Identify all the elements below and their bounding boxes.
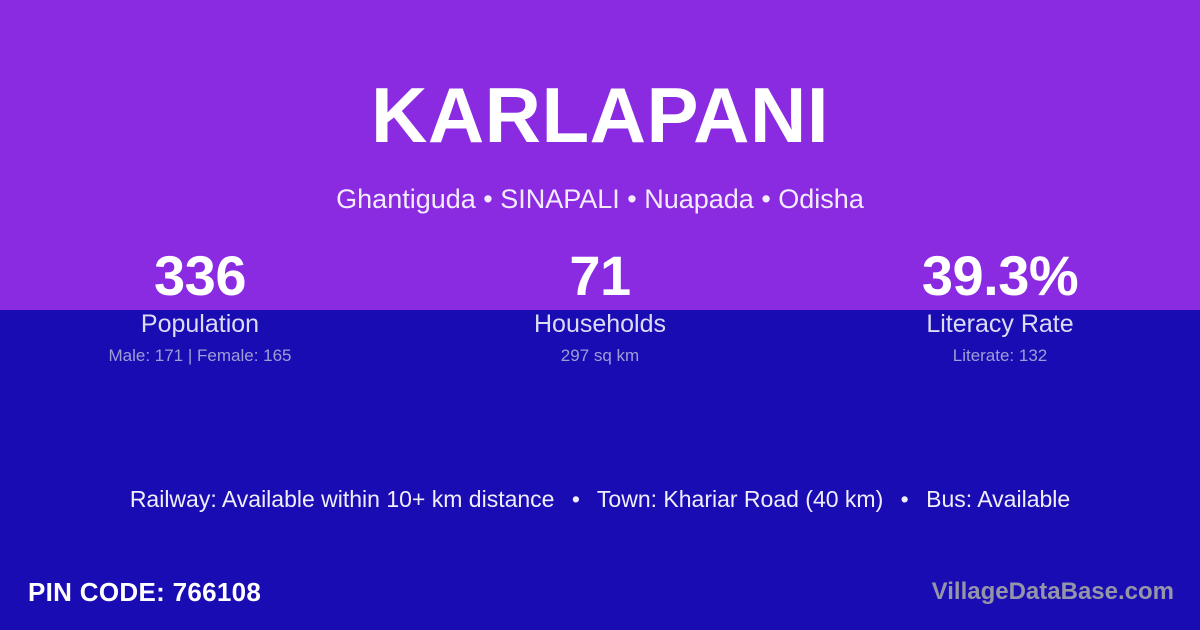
- stat-population-label: Population: [0, 307, 400, 341]
- infrastructure-separator-2: •: [890, 483, 920, 515]
- stat-households-value: 71: [400, 245, 800, 307]
- pin-code: PIN CODE: 766108: [28, 576, 261, 608]
- stat-literacy-rate-value: 39.3%: [800, 245, 1200, 307]
- infrastructure-bus: Bus: Available: [926, 486, 1070, 512]
- breadcrumb: Ghantiguda • SINAPALI • Nuapada • Odisha: [0, 183, 1200, 215]
- infrastructure-railway: Railway: Available within 10+ km distanc…: [130, 486, 555, 512]
- site-brand: VillageDataBase.com: [932, 576, 1174, 608]
- stats-row: 336 Population Male: 171 | Female: 165 7…: [0, 245, 1200, 371]
- infrastructure-town: Town: Khariar Road (40 km): [597, 486, 883, 512]
- stat-households-sub: 297 sq km: [400, 341, 800, 371]
- stat-households: 71 Households 297 sq km: [400, 245, 800, 371]
- stat-literacy-rate-sub: Literate: 132: [800, 341, 1200, 371]
- stat-population-sub: Male: 171 | Female: 165: [0, 341, 400, 371]
- stat-population: 336 Population Male: 171 | Female: 165: [0, 245, 400, 371]
- infrastructure-separator-1: •: [561, 483, 591, 515]
- stat-population-value: 336: [0, 245, 400, 307]
- page-title: KARLAPANI: [0, 76, 1200, 154]
- village-info-card: KARLAPANI Ghantiguda • SINAPALI • Nuapad…: [0, 0, 1200, 630]
- infrastructure-line: Railway: Available within 10+ km distanc…: [0, 483, 1200, 515]
- stat-households-label: Households: [400, 307, 800, 341]
- stat-literacy-rate: 39.3% Literacy Rate Literate: 132: [800, 245, 1200, 371]
- stat-literacy-rate-label: Literacy Rate: [800, 307, 1200, 341]
